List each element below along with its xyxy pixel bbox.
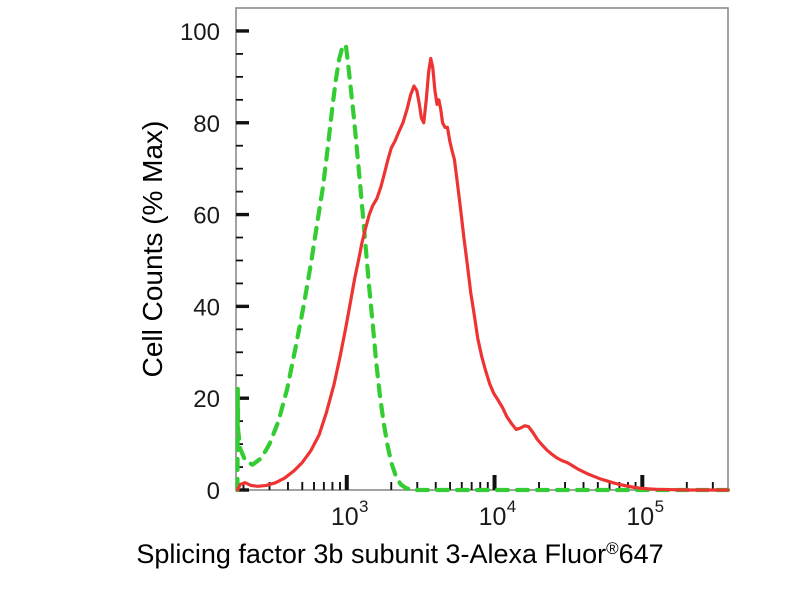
svg-text:5: 5	[655, 497, 664, 516]
y-axis-tick-labels: 020406080100	[180, 19, 220, 505]
y-axis-tick-label: 40	[193, 294, 220, 321]
y-axis-title: Cell Counts (% Max)	[137, 121, 168, 378]
registered-trademark-icon: ®	[606, 539, 619, 558]
histogram-svg: 020406080100 103104105 Cell Counts (% Ma…	[0, 0, 800, 600]
caption-main-text: Splicing factor 3b subunit 3-Alexa Fluor	[136, 539, 606, 569]
svg-text:10: 10	[331, 503, 359, 531]
svg-text:10: 10	[626, 503, 654, 531]
x-axis-caption: Splicing factor 3b subunit 3-Alexa Fluor…	[136, 539, 663, 569]
x-axis-tick-labels: 103104105	[331, 497, 664, 531]
svg-text:4: 4	[507, 497, 516, 516]
x-axis-tick-label: 103	[331, 497, 369, 531]
caption-svg: Splicing factor 3b subunit 3-Alexa Fluor…	[0, 530, 800, 590]
flow-cytometry-figure: 020406080100 103104105 Cell Counts (% Ma…	[0, 0, 800, 600]
x-axis-tick-label: 105	[626, 497, 664, 531]
svg-text:3: 3	[359, 497, 368, 516]
plot-frame	[236, 8, 728, 490]
y-axis-tick-label: 100	[180, 19, 220, 46]
y-axis-tick-label: 60	[193, 203, 220, 230]
svg-text:10: 10	[479, 503, 507, 531]
y-axis-tick-label: 80	[193, 111, 220, 138]
y-axis-tick-label: 20	[193, 386, 220, 413]
caption-fluorophore-number: 647	[619, 539, 664, 569]
x-axis-tick-label: 104	[479, 497, 517, 531]
y-axis-tick-label: 0	[207, 478, 220, 505]
